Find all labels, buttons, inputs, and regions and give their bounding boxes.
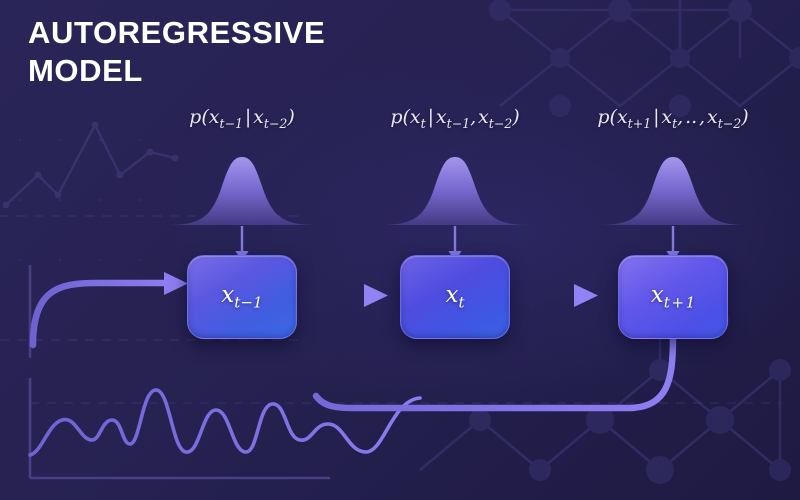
state-box-x-t[interactable]: xt: [400, 255, 510, 339]
autoregressive-model-infographic: AUTOREGRESSIVE MODEL p(xt−1 | xt−2) p(xt…: [0, 0, 800, 500]
feedback-loop-connector: [316, 337, 673, 408]
state-box-x-t-plus-1[interactable]: xt + 1: [618, 255, 728, 339]
state-box-x-t-minus-1[interactable]: xt−1: [187, 255, 297, 339]
state-box-label-3: xt + 1: [651, 282, 695, 312]
flow-arrow-2-to-3: [512, 284, 598, 307]
flow-connectors: [0, 0, 800, 500]
entry-arrow: [33, 272, 188, 345]
state-box-label-2: xt: [445, 282, 464, 312]
flow-arrow-1-to-2: [300, 284, 388, 307]
state-box-label-1: xt−1: [221, 282, 262, 312]
